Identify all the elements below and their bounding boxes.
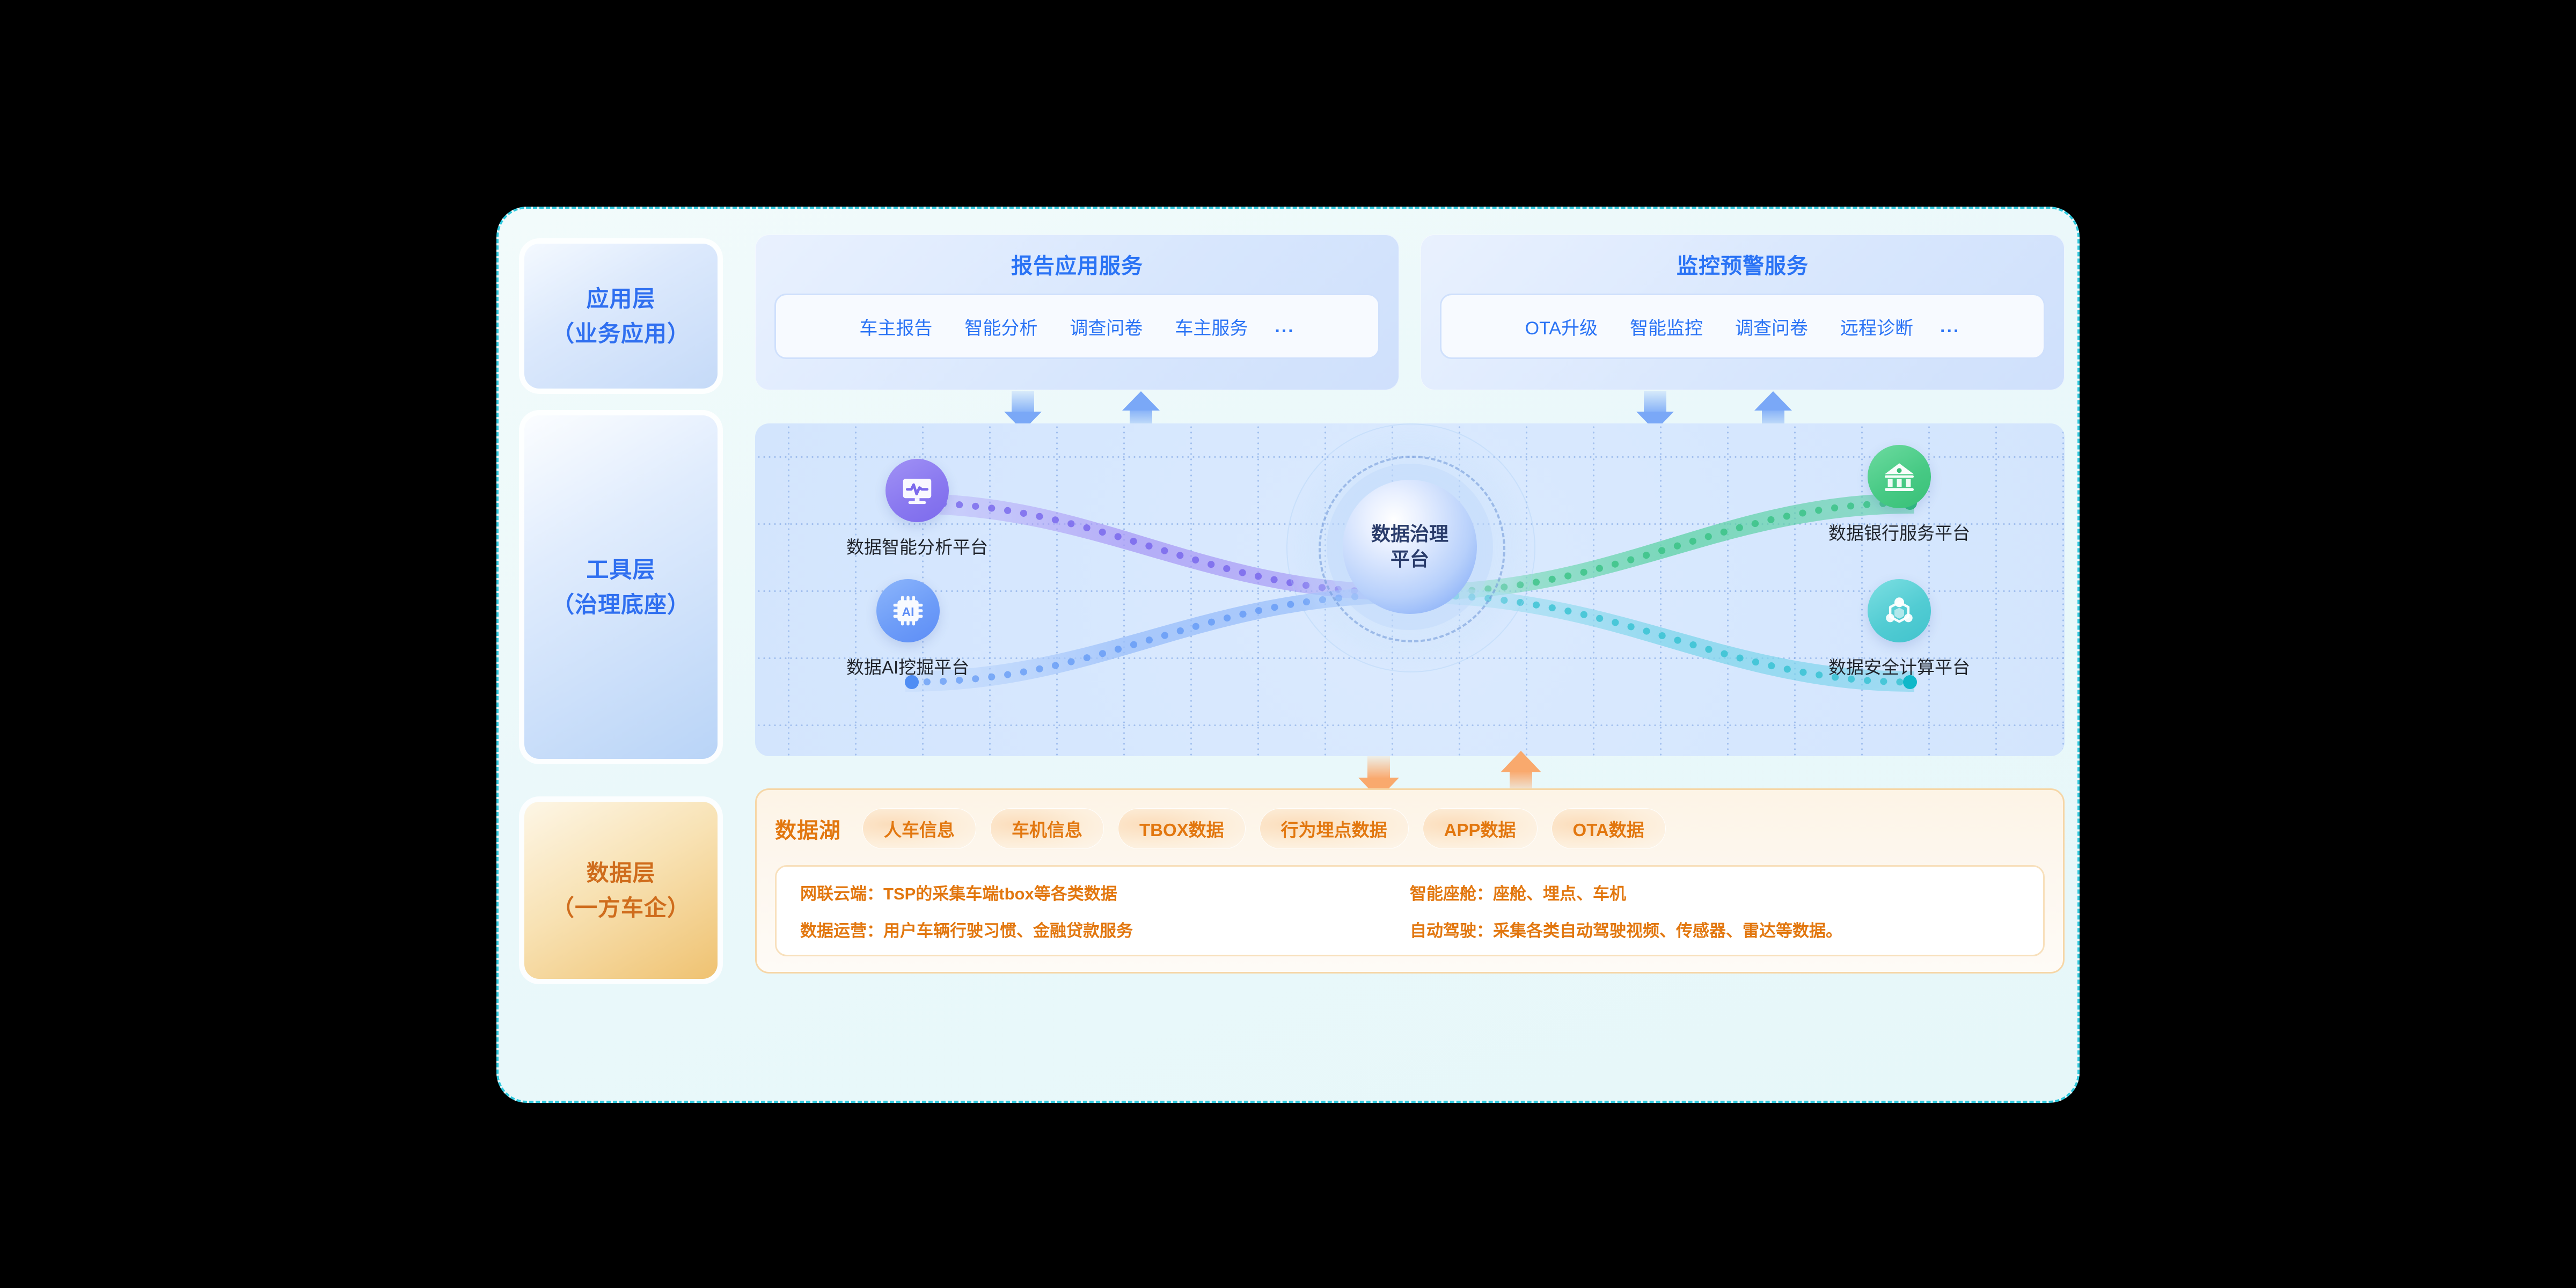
- data-tag-4[interactable]: APP数据: [1423, 808, 1538, 849]
- description-left-0: 网联云端：TSP的采集车端tbox等各类数据: [800, 880, 1410, 904]
- chip-report-0[interactable]: 车主报告: [843, 313, 948, 340]
- data-tag-0[interactable]: 人车信息: [862, 808, 976, 849]
- node-data-analysis-platform[interactable]: 数据智能分析平台: [846, 459, 988, 559]
- service-card-monitor-title: 监控预警服务: [1677, 248, 1809, 280]
- layer-label-tool-name: 工具层: [552, 552, 690, 587]
- data-tag-2[interactable]: TBOX数据: [1118, 808, 1246, 849]
- service-card-report[interactable]: 报告应用服务 车主报告 智能分析 调查问卷 车主服务 ...: [755, 235, 1399, 390]
- tool-layer: 数据治理 平台 数据智能分析平台: [755, 423, 2065, 756]
- layer-label-tool: 工具层 （治理底座）: [524, 415, 718, 759]
- description-right-0: 智能座舱：座舱、埋点、车机: [1410, 880, 2019, 904]
- application-layer: 报告应用服务 车主报告 智能分析 调查问卷 车主服务 ... 监控预警服务 OT…: [755, 235, 2065, 390]
- description-right-1: 自动驾驶：采集各类自动驾驶视频、传感器、雷达等数据。: [1410, 917, 2019, 941]
- layer-label-tool-sub: （治理底座）: [552, 587, 690, 622]
- ai-chip-icon: AI: [876, 579, 940, 642]
- chip-monitor-3[interactable]: 远程诊断: [1824, 313, 1929, 340]
- service-card-monitor-chip-box: OTA升级 智能监控 调查问卷 远程诊断 ...: [1440, 294, 2045, 359]
- chip-monitor-more[interactable]: ...: [1929, 316, 1976, 337]
- chip-report-2[interactable]: 调查问卷: [1053, 313, 1159, 340]
- hub-line-2: 平台: [1371, 547, 1448, 572]
- data-lake-title: 数据湖: [775, 813, 841, 844]
- service-card-report-chip-box: 车主报告 智能分析 调查问卷 车主服务 ...: [774, 294, 1380, 359]
- svg-text:AI: AI: [902, 605, 914, 619]
- diagram-body: 报告应用服务 车主报告 智能分析 调查问卷 车主服务 ... 监控预警服务 OT…: [740, 209, 2082, 1101]
- chip-report-more[interactable]: ...: [1264, 316, 1311, 337]
- node-data-analysis-platform-label: 数据智能分析平台: [846, 533, 988, 559]
- node-data-security-platform-label: 数据安全计算平台: [1828, 653, 1970, 679]
- description-column-right: 智能座舱：座舱、埋点、车机 自动驾驶：采集各类自动驾驶视频、传感器、雷达等数据。: [1410, 883, 2019, 939]
- layer-label-data: 数据层 （一方车企）: [524, 802, 718, 979]
- description-column-left: 网联云端：TSP的采集车端tbox等各类数据 数据运营：用户车辆行驶习惯、金融贷…: [800, 883, 1410, 939]
- chip-monitor-1[interactable]: 智能监控: [1614, 313, 1719, 340]
- node-data-bank-platform[interactable]: 数据银行服务平台: [1828, 445, 1970, 545]
- chip-report-1[interactable]: 智能分析: [948, 313, 1053, 340]
- architecture-diagram: 应用层 （业务应用） 工具层 （治理底座） 数据层 （一方车企） 报告应用服务 …: [496, 207, 2080, 1103]
- data-tag-5[interactable]: OTA数据: [1552, 808, 1666, 849]
- data-layer: 数据湖 人车信息 车机信息 TBOX数据 行为埋点数据 APP数据 OTA数据 …: [755, 788, 2065, 974]
- chip-monitor-2[interactable]: 调查问卷: [1719, 313, 1824, 340]
- layer-label-application: 应用层 （业务应用）: [524, 244, 718, 389]
- governance-platform-hub[interactable]: 数据治理 平台: [1343, 480, 1477, 614]
- data-lake-row: 数据湖 人车信息 车机信息 TBOX数据 行为埋点数据 APP数据 OTA数据: [775, 804, 2045, 853]
- monitor-pulse-icon: [885, 459, 949, 522]
- data-tag-3[interactable]: 行为埋点数据: [1260, 808, 1409, 849]
- layer-label-data-sub: （一方车企）: [552, 890, 690, 925]
- layer-label-data-name: 数据层: [552, 855, 690, 890]
- hub-line-1: 数据治理: [1371, 522, 1448, 547]
- node-data-ai-platform-label: 数据AI挖掘平台: [846, 653, 969, 679]
- service-card-report-title: 报告应用服务: [1011, 248, 1143, 280]
- node-data-ai-platform[interactable]: AI 数据AI挖掘平台: [846, 579, 969, 679]
- layer-label-application-name: 应用层: [552, 281, 690, 316]
- chip-monitor-0[interactable]: OTA升级: [1509, 313, 1614, 340]
- node-data-security-platform[interactable]: 数据安全计算平台: [1828, 579, 1970, 679]
- data-tag-1[interactable]: 车机信息: [990, 808, 1104, 849]
- description-left-1: 数据运营：用户车辆行驶习惯、金融贷款服务: [800, 917, 1410, 941]
- layer-label-application-sub: （业务应用）: [552, 316, 690, 351]
- chip-report-3[interactable]: 车主服务: [1159, 313, 1264, 340]
- bank-icon: [1868, 445, 1931, 508]
- service-card-monitor[interactable]: 监控预警服务 OTA升级 智能监控 调查问卷 远程诊断 ...: [1421, 235, 2065, 390]
- secure-node-icon: [1868, 579, 1931, 642]
- node-data-bank-platform-label: 数据银行服务平台: [1828, 519, 1970, 545]
- data-source-description-box: 网联云端：TSP的采集车端tbox等各类数据 数据运营：用户车辆行驶习惯、金融贷…: [775, 865, 2045, 956]
